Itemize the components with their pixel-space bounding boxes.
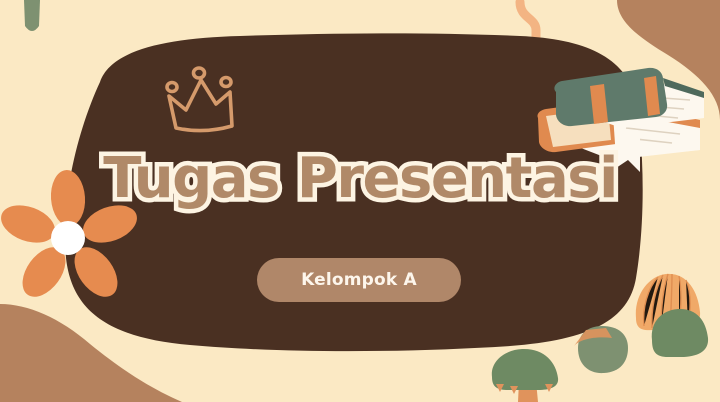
presentation-slide: Tugas Presentasi Kelompok A	[0, 0, 720, 402]
flower-center	[51, 221, 85, 255]
mushroom-stem-icon-top	[24, 0, 40, 31]
crown-icon	[167, 68, 232, 131]
mushroom-green-icon-right	[652, 309, 708, 357]
subtitle-badge: Kelompok A	[257, 258, 461, 302]
mushroom-green-icon-bottom	[492, 349, 558, 402]
title-block: Tugas Presentasi	[0, 150, 720, 209]
mushroom-stem-icon-bottom	[578, 326, 628, 373]
page-title: Tugas Presentasi	[103, 150, 617, 209]
squiggle-icon	[520, 2, 536, 44]
subtitle-label: Kelompok A	[301, 270, 417, 290]
mushroom-cap-under-blob	[574, 328, 612, 346]
mushroom-orange-icon	[636, 274, 700, 330]
corner-blob-shape-bottom-left	[0, 304, 182, 402]
corner-blob-shape-top-right	[617, 0, 720, 120]
